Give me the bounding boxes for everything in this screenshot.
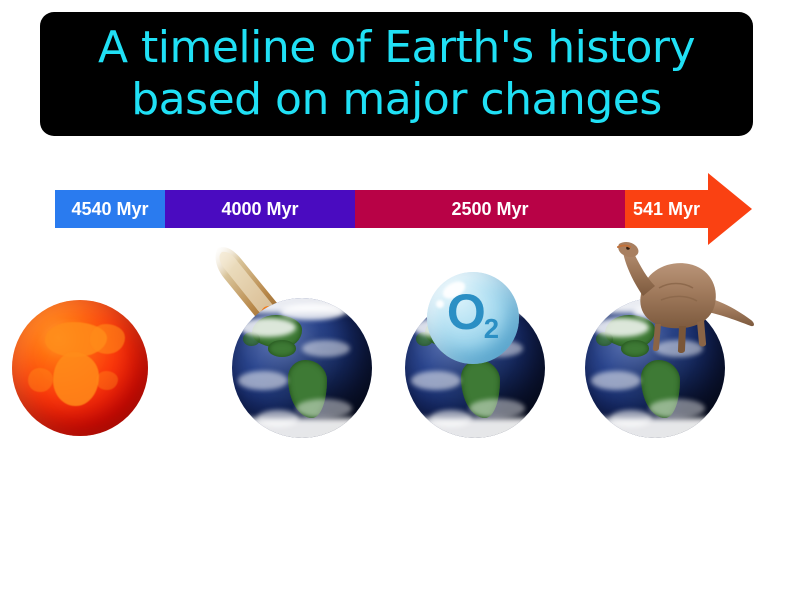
timeline-segment-label: 4000 Myr <box>221 199 298 220</box>
title-banner: A timeline of Earth's history based on m… <box>40 12 753 136</box>
title-line-1: A timeline of Earth's history <box>98 22 695 74</box>
illustration-earth-with-oxygen: O2 <box>385 240 585 470</box>
timeline-bar: 4540 Myr 4000 Myr 2500 Myr 541 Myr <box>55 190 708 228</box>
timeline-segment-541-myr[interactable]: 541 Myr <box>625 190 708 228</box>
molten-earth-globe-icon <box>12 300 148 436</box>
timeline-segment-4000-myr[interactable]: 4000 Myr <box>165 190 355 228</box>
oxygen-label: O2 <box>447 287 499 345</box>
dinosaur-icon <box>589 238 759 368</box>
timeline-segment-4540-myr[interactable]: 4540 Myr <box>55 190 165 228</box>
timeline-arrow-icon <box>708 173 752 245</box>
timeline-segment-label: 541 Myr <box>633 199 700 220</box>
earth-globe-icon <box>232 298 372 438</box>
illustration-earth-with-dinosaur <box>565 240 765 470</box>
timeline-segment-label: 4540 Myr <box>71 199 148 220</box>
timeline-segment-2500-myr[interactable]: 2500 Myr <box>355 190 625 228</box>
illustration-molten-earth <box>0 240 190 470</box>
title-line-2: based on major changes <box>131 74 662 126</box>
illustration-row: O2 <box>0 240 800 470</box>
timeline: 4540 Myr 4000 Myr 2500 Myr 541 Myr <box>55 190 750 238</box>
oxygen-bubble-icon: O2 <box>427 272 519 364</box>
illustration-earth-with-comet <box>212 240 412 470</box>
timeline-segment-label: 2500 Myr <box>451 199 528 220</box>
